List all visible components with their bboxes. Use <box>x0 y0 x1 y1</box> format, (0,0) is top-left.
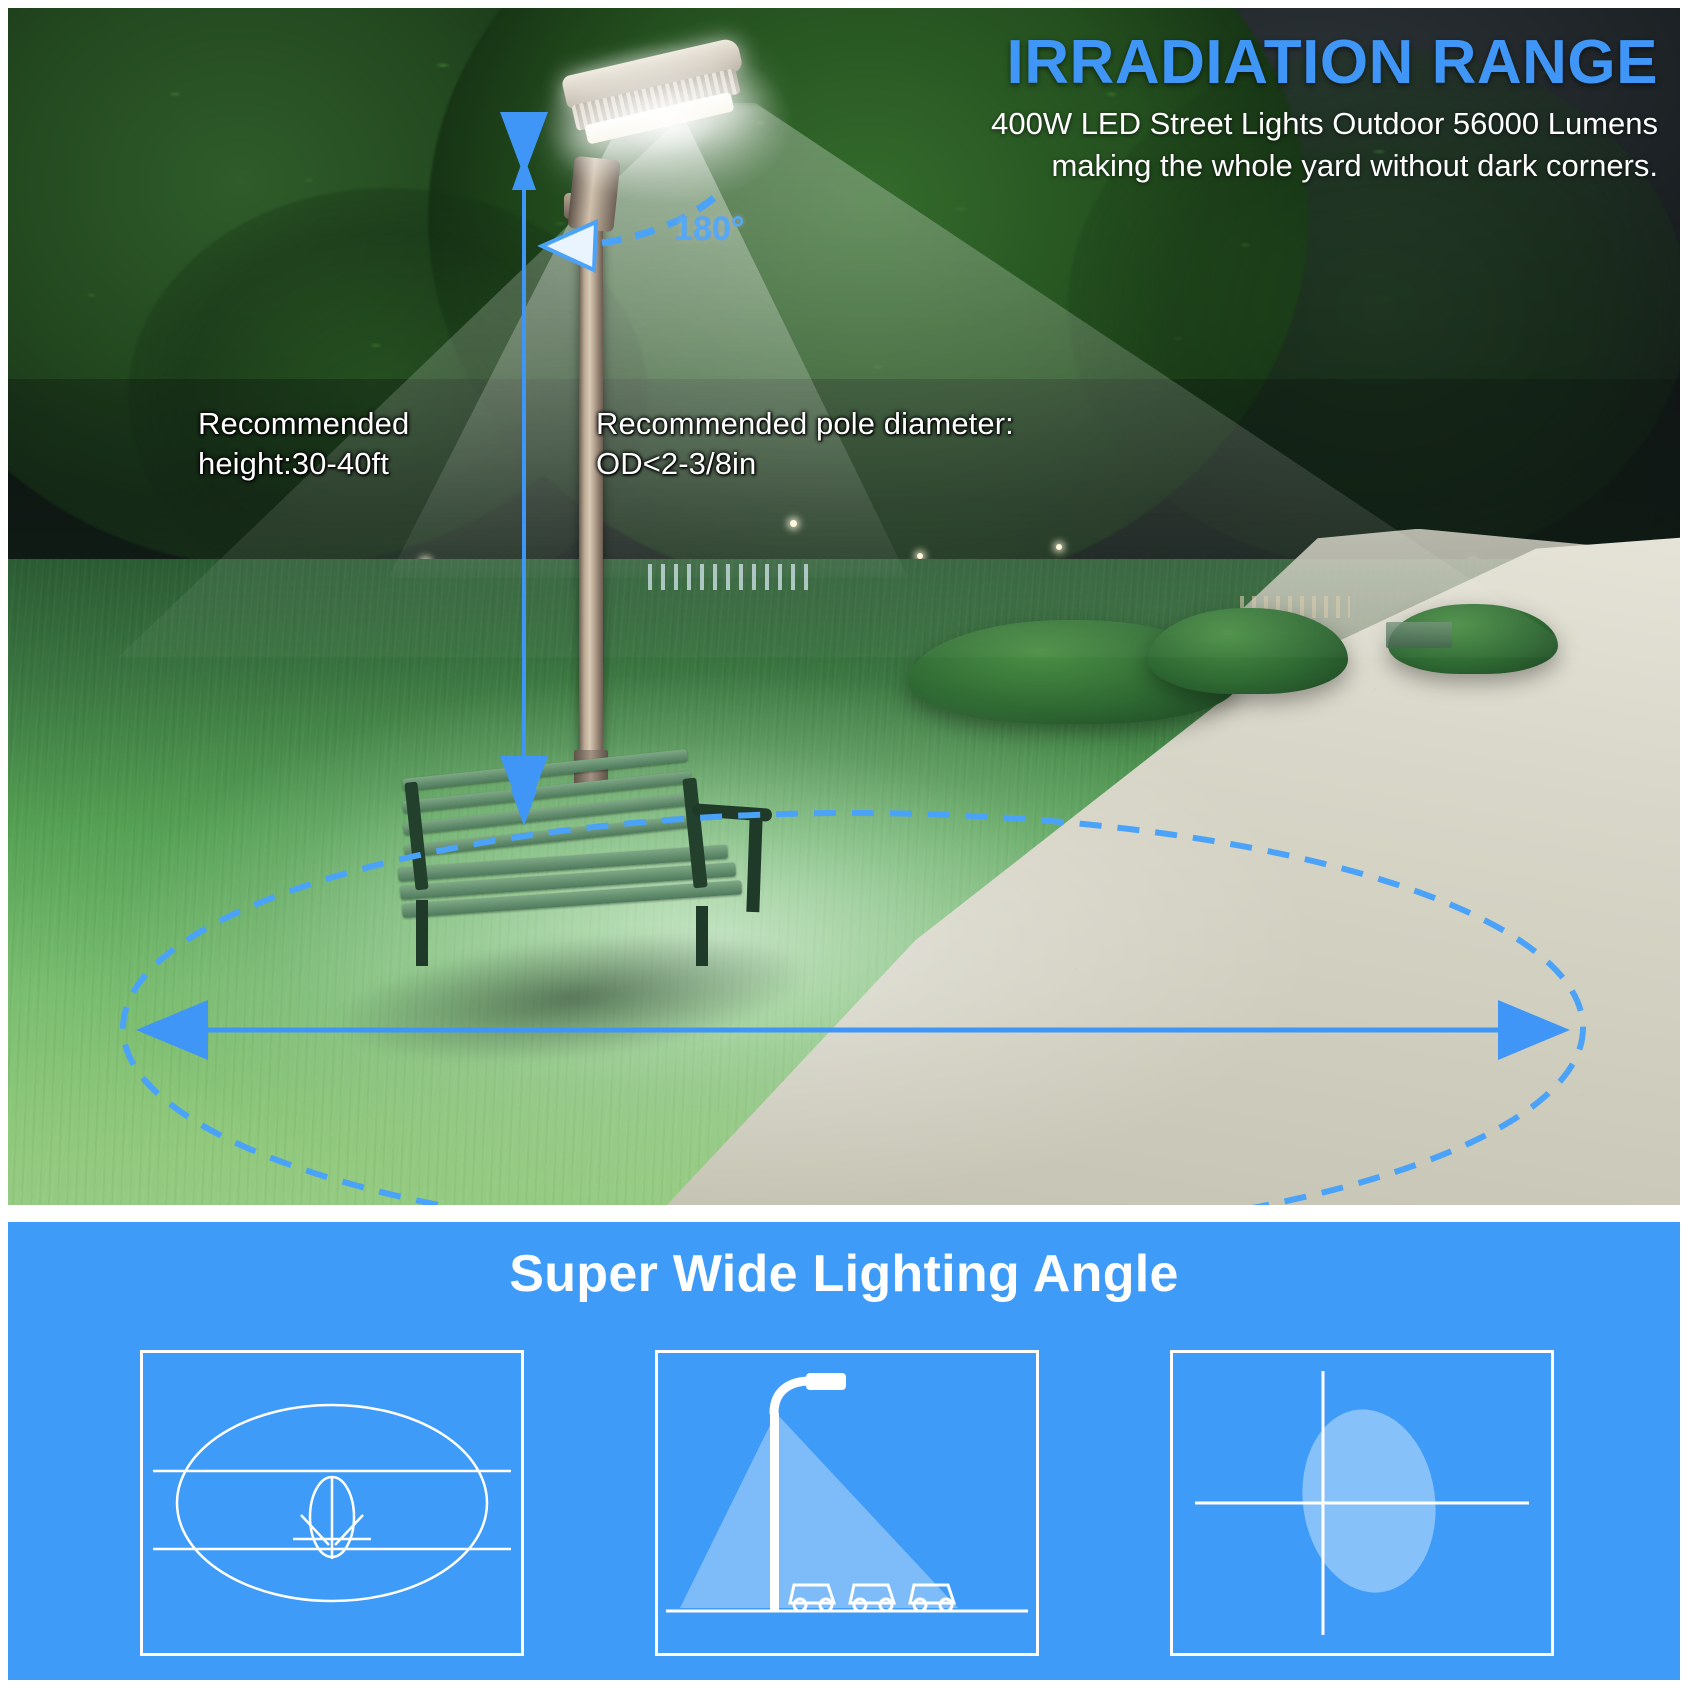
panel-title: Super Wide Lighting Angle <box>8 1244 1680 1304</box>
height-arrow-bottom <box>511 790 537 826</box>
header-subtitle: 400W LED Street Lights Outdoor 56000 Lum… <box>648 103 1658 186</box>
infographic-page: Recommended height:30-40ft Recommended p… <box>0 0 1688 1688</box>
night-park-photo: Recommended height:30-40ft Recommended p… <box>8 8 1680 1205</box>
width-arrow-right <box>1498 1000 1570 1060</box>
lighting-area-ellipse <box>123 813 1583 1205</box>
width-arrow-left <box>136 1000 208 1060</box>
polar-photometric-svg <box>143 1353 521 1653</box>
tilt-arrow-head <box>542 222 596 270</box>
diagram-isolux-crosshair <box>1170 1350 1554 1656</box>
super-wide-angle-panel: Super Wide Lighting Angle <box>8 1222 1680 1680</box>
diagram-beam-cone-over-cars <box>655 1350 1039 1656</box>
header-text-block: IRRADIATION RANGE 400W LED Street Lights… <box>648 30 1658 186</box>
tilt-angle-label: 180° <box>674 208 745 252</box>
header-subtitle-line2: making the whole yard without dark corne… <box>648 145 1658 187</box>
pole-arm <box>774 1381 810 1413</box>
recommended-height-label: Recommended height:30-40ft <box>198 404 409 483</box>
isolux-crosshair-svg <box>1173 1353 1551 1653</box>
page-title: IRRADIATION RANGE <box>648 30 1658 95</box>
isolux-blob <box>1291 1401 1447 1602</box>
beam-cone-fill <box>680 1413 958 1608</box>
beam-cone-svg <box>658 1353 1036 1653</box>
height-arrow-top <box>512 156 536 190</box>
recommended-pole-diameter-label: Recommended pole diameter: OD<2-3/8in <box>596 404 1014 483</box>
luminaire-shape <box>806 1373 846 1390</box>
pole-shape <box>770 1413 779 1611</box>
annotation-overlay <box>8 8 1680 1205</box>
diagram-polar-photometric <box>140 1350 524 1656</box>
header-subtitle-line1: 400W LED Street Lights Outdoor 56000 Lum… <box>648 103 1658 145</box>
